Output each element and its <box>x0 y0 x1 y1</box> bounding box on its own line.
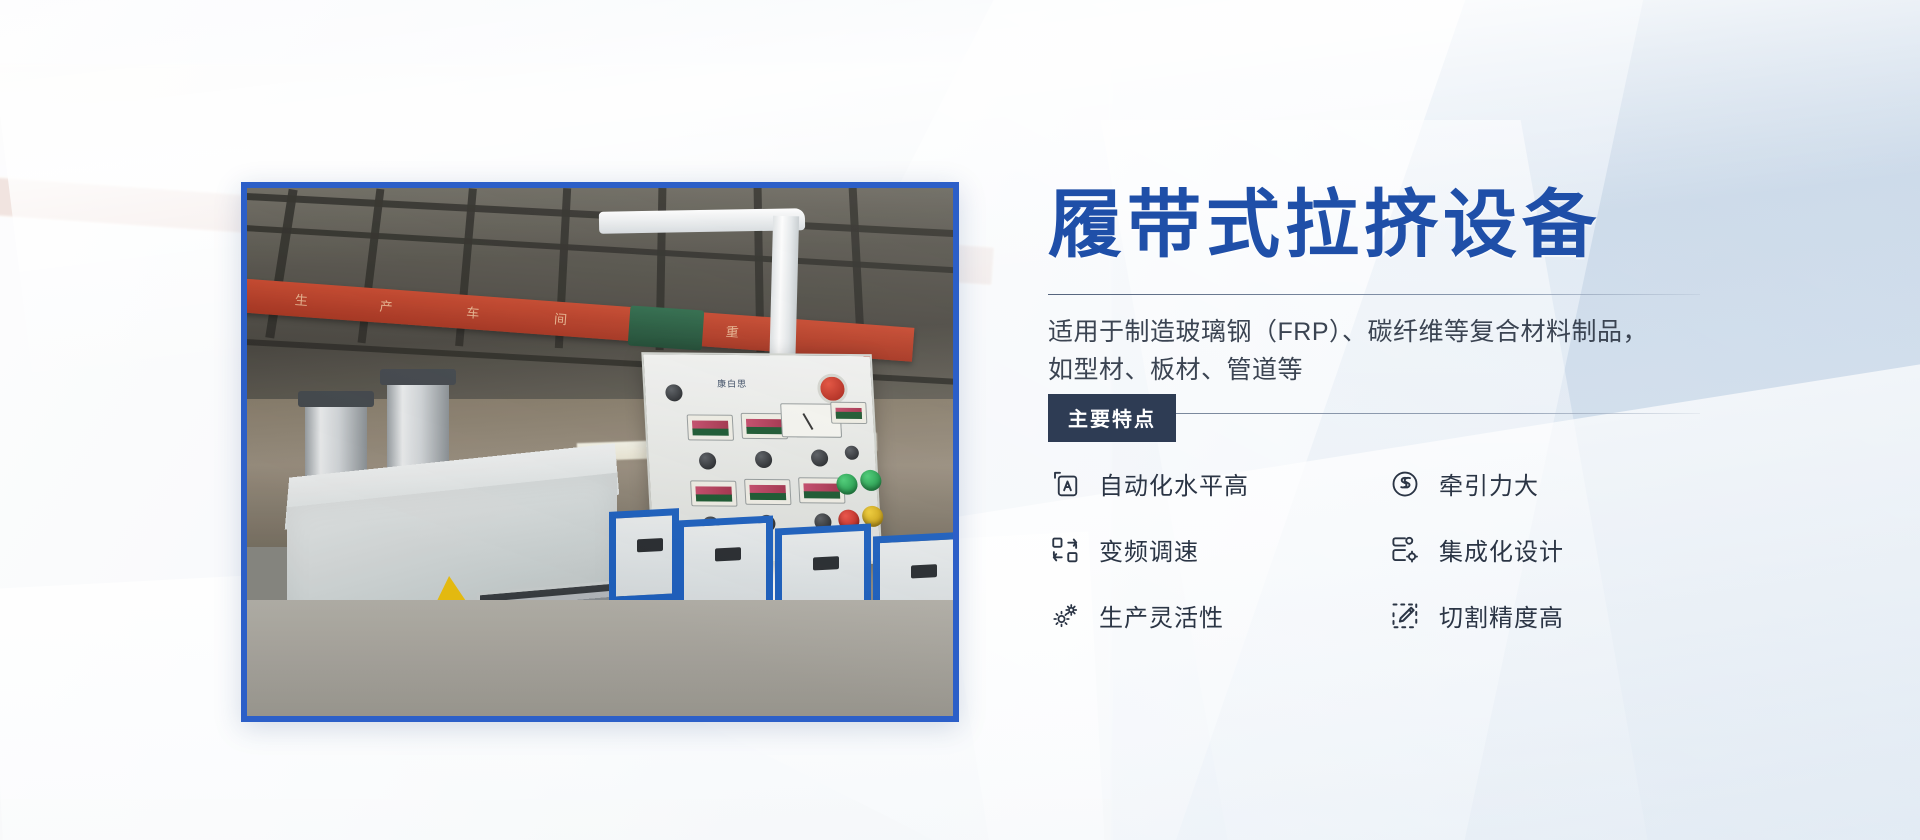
feature-label: 切割精度高 <box>1439 598 1564 633</box>
factory-floor <box>247 600 953 716</box>
feature-item-traction[interactable]: 牵引力大 <box>1388 466 1728 501</box>
emergency-stop-button[interactable] <box>817 374 849 404</box>
automation-a-icon <box>1048 467 1082 501</box>
title-divider <box>1048 294 1700 295</box>
feature-item-cutting-precision[interactable]: 切割精度高 <box>1388 598 1728 633</box>
feature-item-frequency-drive[interactable]: 变频调速 <box>1048 532 1388 567</box>
feature-item-integrated-design[interactable]: 集成化设计 <box>1388 532 1728 567</box>
feature-label: 变频调速 <box>1099 532 1199 567</box>
frequency-drive-icon <box>1048 533 1082 567</box>
integrated-design-icon <box>1388 533 1422 567</box>
status-badge: 主要特点 <box>1048 394 1176 442</box>
feature-item-flexibility[interactable]: 生产灵活性 <box>1048 598 1388 633</box>
feature-label: 集成化设计 <box>1439 532 1564 567</box>
hazard-warning-icon <box>434 575 466 603</box>
page-title: 履带式拉挤设备 <box>1048 186 1748 264</box>
features-divider: 主要特点 <box>1048 413 1700 414</box>
factory-photo: 生产 车间 起重 康白思 <box>247 188 953 716</box>
feature-label: 生产灵活性 <box>1099 598 1224 633</box>
gears-icon <box>1048 599 1082 633</box>
traction-waves-icon <box>1388 467 1422 501</box>
product-banner: 生产 车间 起重 康白思 <box>0 0 1920 840</box>
feature-label: 自动化水平高 <box>1099 466 1249 501</box>
indicator-lamp-green-1 <box>836 474 858 495</box>
banner-content: 履带式拉挤设备 适用于制造玻璃钢（FRP）、碳纤维等复合材料制品，如型材、板材、… <box>1048 186 1748 633</box>
feature-item-automation[interactable]: 自动化水平高 <box>1048 466 1388 501</box>
product-description: 适用于制造玻璃钢（FRP）、碳纤维等复合材料制品，如型材、板材、管道等 <box>1048 313 1648 389</box>
precision-pen-icon <box>1388 599 1422 633</box>
crane-hoist <box>628 305 705 350</box>
feature-label: 牵引力大 <box>1439 466 1539 501</box>
product-photo-card: 生产 车间 起重 康白思 <box>241 182 959 722</box>
feature-list: 自动化水平高 牵引力大 <box>1048 466 1748 633</box>
indicator-lamp-green-2 <box>860 470 882 491</box>
panel-brand-label: 康白思 <box>717 377 748 390</box>
